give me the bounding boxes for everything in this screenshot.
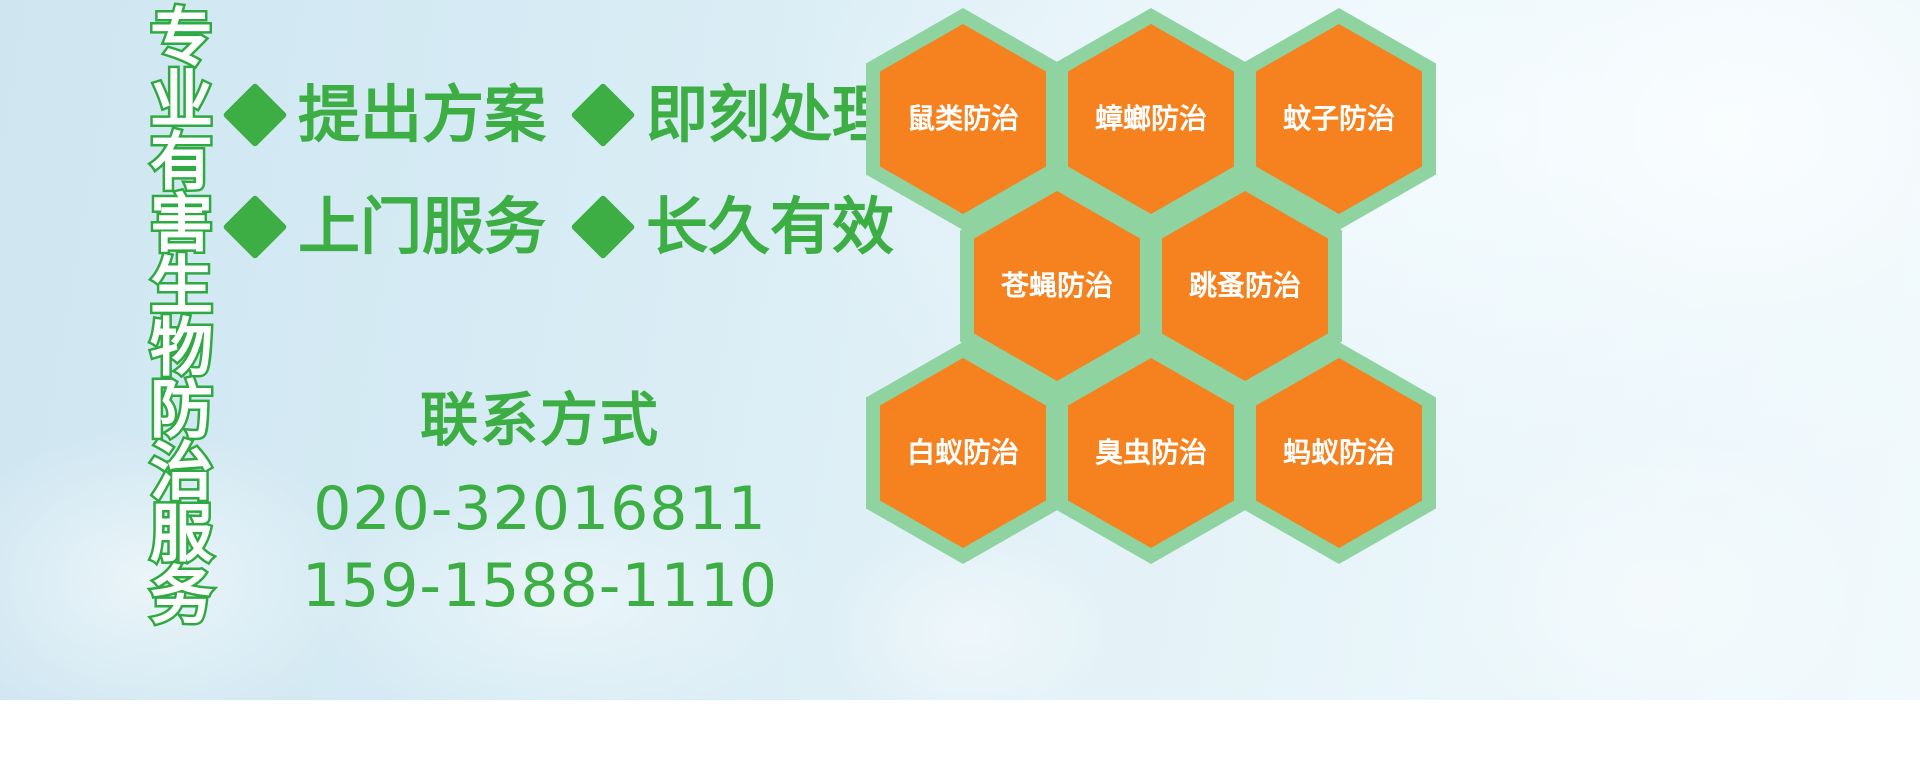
hex-inner: 蟑螂防治 <box>1068 24 1234 214</box>
hex-inner: 蚂蚁防治 <box>1256 358 1422 548</box>
feature-item-immediate-handling: 即刻处理 <box>580 84 894 146</box>
diamond-icon <box>222 194 287 259</box>
feature-item-long-lasting: 长久有效 <box>580 196 894 258</box>
feature-label: 上门服务 <box>298 196 546 258</box>
service-honeycomb: 鼠类防治 蟑螂防治 蚊子防治 苍蝇防治 跳蚤防治 白蚁防治 <box>862 0 1462 700</box>
feature-row-bottom: 上门服务 长久有效 <box>232 196 894 258</box>
hex-label: 蚊子防治 <box>1283 105 1395 133</box>
background-glow <box>1430 430 1890 760</box>
hex-label: 鼠类防治 <box>907 105 1019 133</box>
hex-inner: 白蚁防治 <box>880 358 1046 548</box>
hex-label: 蟑螂防治 <box>1095 105 1207 133</box>
hex-inner: 跳蚤防治 <box>1162 191 1328 381</box>
hex-label: 臭虫防治 <box>1095 439 1207 467</box>
hex-inner: 臭虫防治 <box>1068 358 1234 548</box>
hex-label: 跳蚤防治 <box>1189 272 1301 300</box>
phone-mobile[interactable]: 159-1588-1110 <box>240 548 840 625</box>
feature-label: 长久有效 <box>646 196 894 258</box>
vertical-headline: 专业有害生物防治服务 <box>104 4 208 564</box>
feature-item-onsite-service: 上门服务 <box>232 196 546 258</box>
diamond-icon <box>570 82 635 147</box>
hex-inner: 蚊子防治 <box>1256 24 1422 214</box>
hex-label: 苍蝇防治 <box>1001 272 1113 300</box>
hex-label: 白蚁防治 <box>907 439 1019 467</box>
contact-heading: 联系方式 <box>240 390 840 451</box>
diamond-icon <box>570 194 635 259</box>
feature-item-propose-plan: 提出方案 <box>232 84 546 146</box>
contact-block: 联系方式 020-32016811 159-1588-1110 <box>240 390 840 624</box>
feature-label: 即刻处理 <box>646 84 894 146</box>
feature-label: 提出方案 <box>298 84 546 146</box>
phone-landline[interactable]: 020-32016811 <box>240 471 840 548</box>
diamond-icon <box>222 82 287 147</box>
hex-inner: 苍蝇防治 <box>974 191 1140 381</box>
hex-label: 蚂蚁防治 <box>1283 439 1395 467</box>
hex-inner: 鼠类防治 <box>880 24 1046 214</box>
pest-control-banner: 专业有害生物防治服务 提出方案 即刻处理 上门服务 长久有效 联系方式 020-… <box>0 0 1920 700</box>
feature-row-top: 提出方案 即刻处理 <box>232 84 894 146</box>
background-glow <box>1480 0 1920 340</box>
